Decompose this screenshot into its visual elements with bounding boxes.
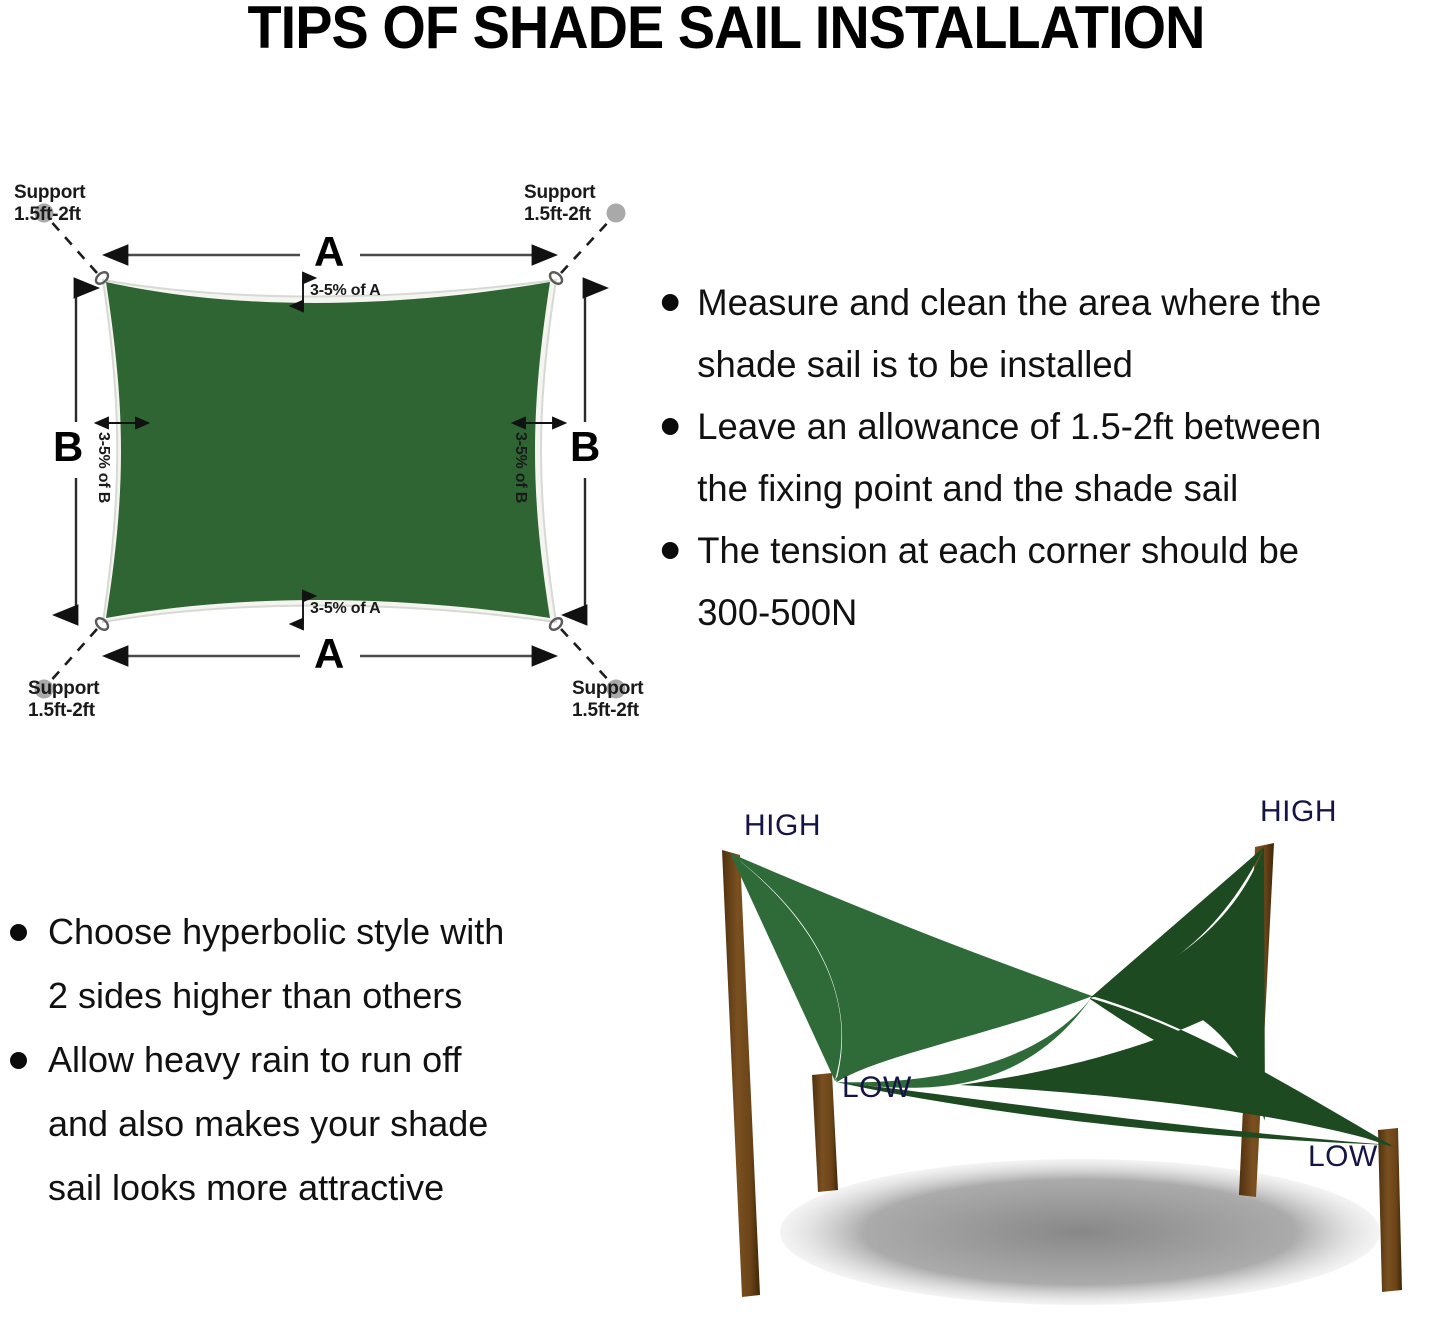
dimension-label-a-top: A	[314, 231, 344, 273]
tip-line: Measure and clean the area where the	[697, 272, 1440, 334]
list-item: The tension at each corner should be 300…	[650, 520, 1440, 644]
tip-line: 2 sides higher than others	[48, 964, 630, 1028]
support-label-top-left: Support 1.5ft-2ft	[14, 182, 85, 226]
support-label-line2: 1.5ft-2ft	[572, 700, 643, 722]
tip-line: sail looks more attractive	[48, 1156, 630, 1220]
percent-label-right: 3-5% of B	[511, 432, 529, 503]
infographic-page: TIPS OF SHADE SAIL INSTALLATION	[0, 0, 1452, 1325]
list-item: Allow heavy rain to run off and also mak…	[0, 1028, 630, 1220]
support-label-bottom-left: Support 1.5ft-2ft	[28, 678, 99, 722]
rectangular-sail-diagram: Support 1.5ft-2ft Support 1.5ft-2ft Supp…	[0, 160, 650, 740]
label-high-left: HIGH	[744, 809, 821, 843]
support-label-line1: Support	[28, 678, 99, 700]
list-item: Choose hyperbolic style with 2 sides hig…	[0, 900, 630, 1028]
tip-line: The tension at each corner should be	[697, 520, 1440, 582]
tip-line: and also makes your shade	[48, 1092, 630, 1156]
sail-body	[106, 282, 550, 618]
tip-line: shade sail is to be installed	[697, 334, 1440, 396]
label-low-left: LOW	[842, 1071, 912, 1105]
post-low-right	[1378, 1128, 1402, 1292]
list-item: Measure and clean the area where the sha…	[650, 272, 1440, 396]
support-label-line1: Support	[14, 182, 85, 204]
page-title: TIPS OF SHADE SAIL INSTALLATION	[51, 0, 1401, 59]
post-low-left	[812, 1073, 838, 1192]
list-item: Leave an allowance of 1.5-2ft between th…	[650, 396, 1440, 520]
percent-label-top: 3-5% of A	[310, 282, 381, 300]
dimension-label-b-right: B	[570, 426, 600, 468]
support-label-line2: 1.5ft-2ft	[28, 700, 99, 722]
support-label-bottom-right: Support 1.5ft-2ft	[572, 678, 643, 722]
label-low-right: LOW	[1308, 1140, 1378, 1174]
percent-label-bottom: 3-5% of A	[310, 600, 381, 618]
support-label-line2: 1.5ft-2ft	[524, 204, 595, 226]
support-label-line1: Support	[572, 678, 643, 700]
tip-line: 300-500N	[697, 582, 1440, 644]
tip-line: Allow heavy rain to run off	[48, 1028, 630, 1092]
tip-line: the fixing point and the shade sail	[697, 458, 1440, 520]
label-high-right: HIGH	[1260, 795, 1337, 829]
tip-line: Leave an allowance of 1.5-2ft between	[697, 396, 1440, 458]
percent-label-left: 3-5% of B	[94, 432, 112, 503]
dimension-label-a-bottom: A	[314, 633, 344, 675]
installation-tips-list: Measure and clean the area where the sha…	[650, 272, 1452, 644]
hyperbolic-style-tips-list: Choose hyperbolic style with 2 sides hig…	[0, 900, 630, 1220]
ground-shadow	[780, 1159, 1380, 1305]
support-label-line2: 1.5ft-2ft	[14, 204, 85, 226]
dimension-label-b-left: B	[53, 426, 83, 468]
post-high-left	[722, 850, 760, 1297]
support-label-line1: Support	[524, 182, 595, 204]
tip-line: Choose hyperbolic style with	[48, 900, 630, 964]
hyperbolic-sail-svg	[660, 785, 1452, 1325]
hyperbolic-sail-diagram: HIGH HIGH LOW LOW	[660, 785, 1452, 1325]
support-label-top-right: Support 1.5ft-2ft	[524, 182, 595, 226]
